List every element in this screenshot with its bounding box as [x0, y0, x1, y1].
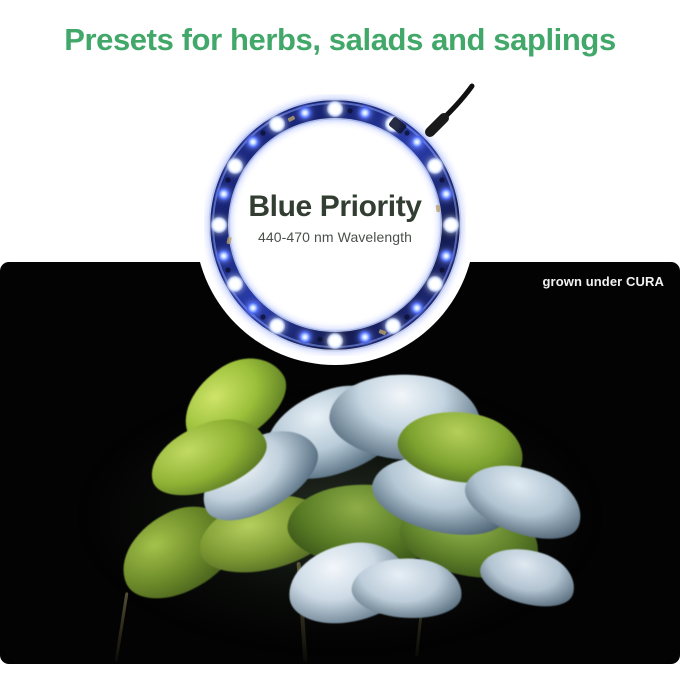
power-cable-icon — [400, 78, 500, 158]
photo-caption: grown under CURA — [543, 274, 664, 289]
preset-title: Blue Priority — [195, 190, 475, 224]
preset-label-group: Blue Priority 440-470 nm Wavelength — [195, 190, 475, 245]
preset-subtitle: 440-470 nm Wavelength — [195, 229, 475, 245]
page-title: Presets for herbs, salads and saplings — [0, 22, 680, 58]
